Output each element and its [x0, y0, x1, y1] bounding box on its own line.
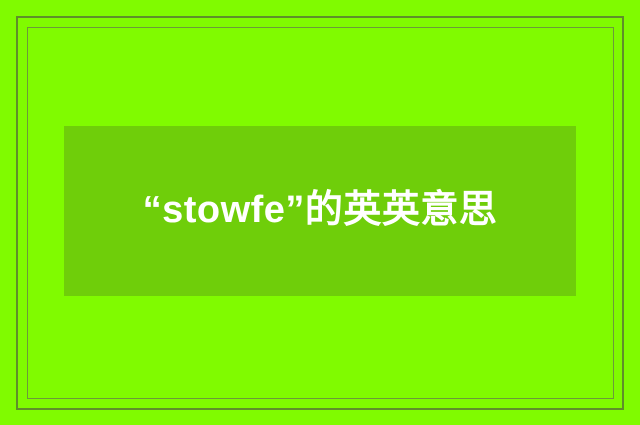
content-panel: “stowfe”的英英意思 [64, 126, 576, 296]
headline-title: “stowfe”的英英意思 [105, 183, 535, 238]
card-canvas: “stowfe”的英英意思 [0, 0, 640, 425]
